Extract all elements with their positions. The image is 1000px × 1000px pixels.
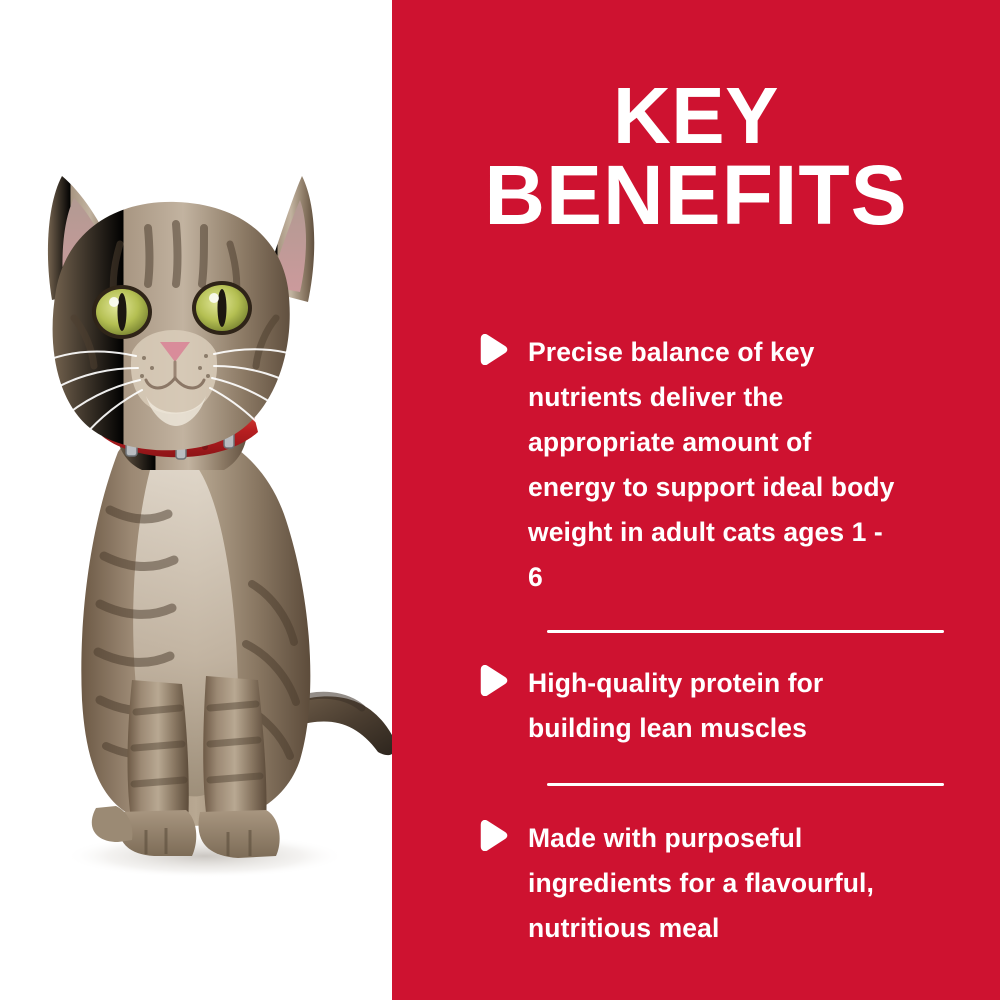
page-title: KEY BENEFITS bbox=[392, 78, 1000, 235]
page-title-line-2: BENEFITS bbox=[392, 155, 1000, 236]
cat-photo-pane bbox=[0, 0, 392, 1000]
benefit-text: Precise balance of key nutrients deliver… bbox=[528, 330, 903, 600]
benefits-panel: KEY BENEFITS Precise balance of key nutr… bbox=[392, 0, 1000, 1000]
list-item: High-quality protein for building lean m… bbox=[478, 661, 958, 751]
list-item: Precise balance of key nutrients deliver… bbox=[478, 330, 958, 600]
benefits-list: Precise balance of key nutrients deliver… bbox=[478, 330, 958, 951]
play-triangle-icon bbox=[478, 334, 508, 365]
play-triangle-icon bbox=[478, 820, 508, 851]
key-benefits-graphic: KEY BENEFITS Precise balance of key nutr… bbox=[0, 0, 1000, 1000]
benefit-text: Made with purposeful ingredients for a f… bbox=[528, 816, 903, 951]
list-item: Made with purposeful ingredients for a f… bbox=[478, 816, 958, 951]
benefit-text: High-quality protein for building lean m… bbox=[528, 661, 903, 751]
page-title-line-1: KEY bbox=[392, 78, 1000, 155]
play-triangle-icon bbox=[478, 665, 508, 696]
cat-photo bbox=[0, 0, 392, 1000]
